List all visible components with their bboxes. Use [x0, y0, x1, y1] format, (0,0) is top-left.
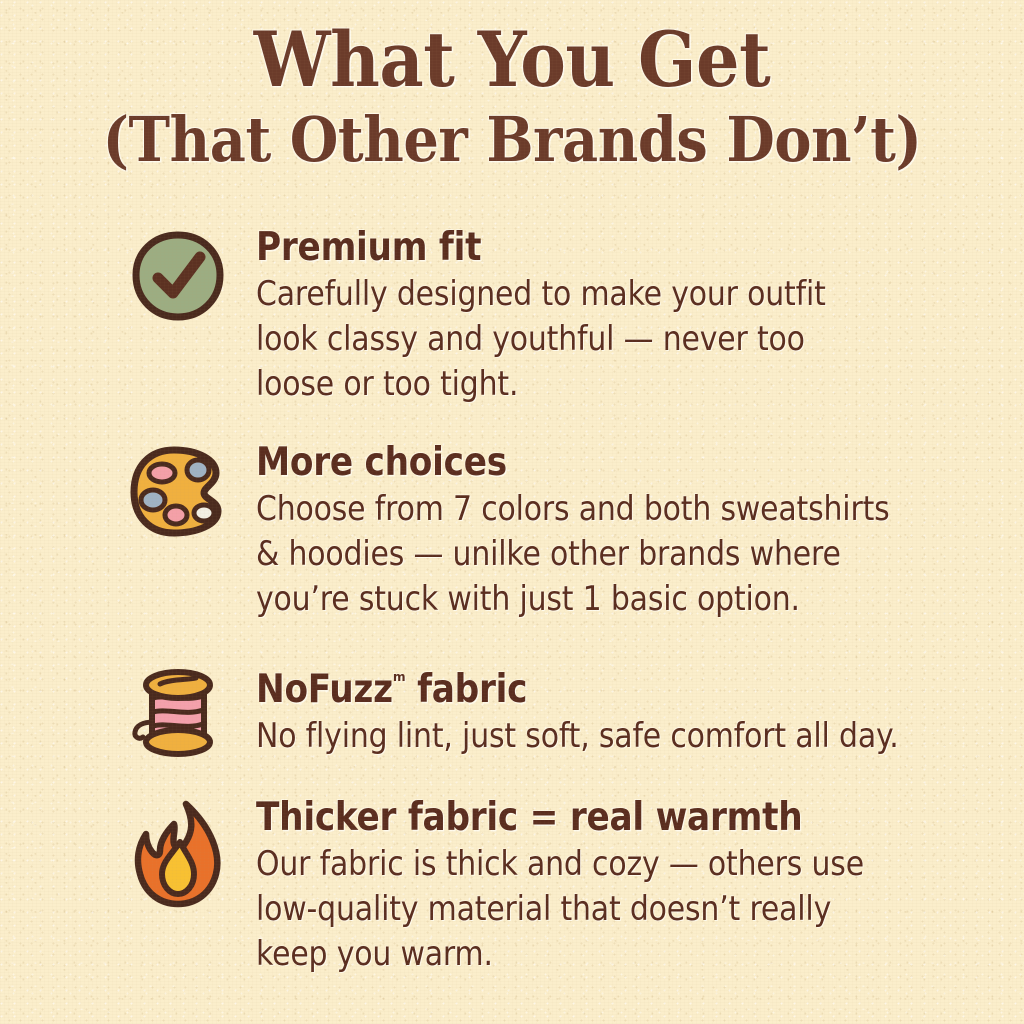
body-line: No flying lint, just soft, safe comfort …: [256, 714, 899, 759]
list-item: Thicker fabric = real warmth Our fabric …: [0, 796, 1024, 977]
flame-icon: [130, 800, 226, 896]
feature-body: Choose from 7 colors and both sweatshirt…: [256, 487, 890, 622]
feature-text: NoFuzzᵐ fabric No flying lint, just soft…: [226, 660, 986, 759]
feature-title: Premium fit: [256, 226, 870, 270]
headline-line-2: (That Other Brands Don’t): [51, 104, 973, 176]
paint-palette-icon: [130, 445, 226, 541]
list-item: More choices Choose from 7 colors and bo…: [0, 441, 1024, 622]
body-line: look classy and youthful — never too: [256, 317, 870, 362]
check-circle-icon: [130, 230, 226, 326]
body-line: Carefully designed to make your outfit: [256, 272, 870, 317]
thread-spool-icon: [130, 664, 226, 760]
headline-line-1: What You Get: [51, 18, 973, 102]
promo-poster: What You Get (That Other Brands Don’t) P…: [0, 0, 1024, 1024]
body-line: loose or too tight.: [256, 362, 870, 407]
feature-list: Premium fit Carefully designed to make y…: [0, 226, 1024, 977]
list-item: Premium fit Carefully designed to make y…: [0, 226, 1024, 407]
feature-title: More choices: [256, 441, 890, 485]
body-line: keep you warm.: [256, 932, 870, 977]
feature-body: Our fabric is thick and cozy — others us…: [256, 842, 870, 977]
body-line: low-quality material that doesn’t really: [256, 887, 870, 932]
feature-text: More choices Choose from 7 colors and bo…: [226, 441, 976, 622]
trademark-mark: ᵐ: [393, 669, 406, 694]
list-item: NoFuzzᵐ fabric No flying lint, just soft…: [0, 660, 1024, 760]
feature-body: No flying lint, just soft, safe comfort …: [256, 714, 899, 759]
feature-text: Premium fit Carefully designed to make y…: [226, 226, 954, 407]
feature-body: Carefully designed to make your outfit l…: [256, 272, 870, 407]
page-title: What You Get (That Other Brands Don’t): [0, 18, 1024, 176]
feature-title: Thicker fabric = real warmth: [256, 796, 870, 840]
body-line: you’re stuck with just 1 basic option.: [256, 577, 890, 622]
body-line: Choose from 7 colors and both sweatshirt…: [256, 487, 890, 532]
feature-text: Thicker fabric = real warmth Our fabric …: [226, 796, 954, 977]
body-line: Our fabric is thick and cozy — others us…: [256, 842, 870, 887]
feature-title: NoFuzzᵐ fabric: [256, 660, 899, 712]
feature-title-suffix: fabric: [405, 667, 527, 712]
body-line: & hoodies — unilke other brands where: [256, 532, 890, 577]
feature-title-prefix: NoFuzz: [256, 667, 393, 712]
